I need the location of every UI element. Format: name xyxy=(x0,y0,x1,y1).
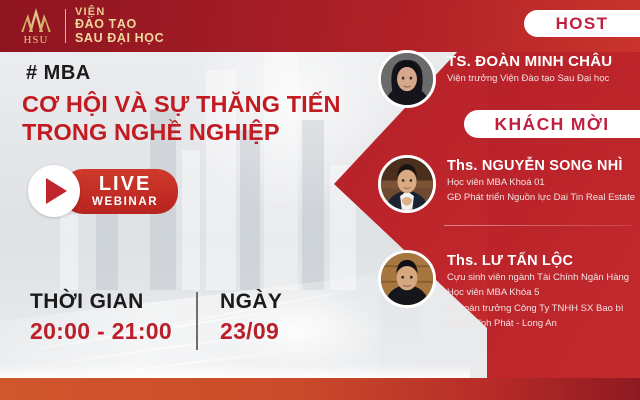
title-line-2: TRONG NGHỀ NGHIỆP xyxy=(22,118,341,146)
title-line-1: CƠ HỘI VÀ SỰ THĂNG TIẾN xyxy=(22,90,341,118)
speaker-role: nhựa Vĩnh Phát - Long An xyxy=(447,317,629,330)
hsu-logo[interactable]: HSU VIỆN ĐÀO TẠO SAU ĐẠI HỌC xyxy=(14,5,164,47)
live-label: LIVE xyxy=(92,174,158,194)
speaker-role: Học viên MBA Khóa 5 xyxy=(447,286,629,299)
speaker-name: TS. ĐOÀN MINH CHÂU xyxy=(447,53,612,70)
speaker-host: TS. ĐOÀN MINH CHÂU Viện trưởng Viện Đào … xyxy=(378,50,612,108)
avatar xyxy=(378,155,436,213)
building-tower xyxy=(264,40,298,290)
bottom-fade xyxy=(0,364,470,378)
date-column: NGÀY 23/09 xyxy=(220,290,282,345)
speaker-role: GĐ Phát triển Nguồn lực Dai Tin Real Est… xyxy=(447,191,635,204)
webinar-poster: HSU VIỆN ĐÀO TẠO SAU ĐẠI HỌC HOST KHÁCH … xyxy=(0,0,640,400)
hsu-wordmark: HSU xyxy=(14,34,58,46)
speaker-guest-1: Ths. NGUYỄN SONG NHÌ Học viên MBA Khoá 0… xyxy=(378,155,635,213)
time-column: THỜI GIAN 20:00 - 21:00 xyxy=(30,290,172,345)
avatar xyxy=(378,250,436,308)
brand-line-2: ĐÀO TẠO xyxy=(75,18,164,32)
bottom-accent-bar xyxy=(0,378,640,400)
avatar xyxy=(378,50,436,108)
schedule-block: THỜI GIAN 20:00 - 21:00 NGÀY 23/09 xyxy=(30,290,282,350)
speaker-guest-2: Ths. LƯ TẤN LỘC Cựu sinh viên ngành Tài … xyxy=(378,250,629,331)
speaker-divider xyxy=(444,225,632,226)
speaker-role: Cựu sinh viên ngành Tài Chính Ngân Hàng xyxy=(447,271,629,284)
speaker-name: Ths. LƯ TẤN LỘC xyxy=(447,253,629,269)
building-shape xyxy=(240,130,260,290)
host-badge: HOST xyxy=(524,10,640,37)
speaker-role: Kế toán trưởng Công Ty TNHH SX Bao bì xyxy=(447,302,629,315)
hsu-flame-icon: HSU xyxy=(14,7,58,46)
logo-divider xyxy=(65,9,66,43)
page-title: CƠ HỘI VÀ SỰ THĂNG TIẾN TRONG NGHỀ NGHIỆ… xyxy=(22,90,341,146)
play-icon[interactable] xyxy=(28,165,80,217)
time-label: THỜI GIAN xyxy=(30,290,172,314)
live-webinar-button[interactable]: LIVE WEBINAR xyxy=(28,165,178,217)
hashtag-mba: # MBA xyxy=(26,62,91,85)
play-triangle xyxy=(46,178,67,204)
date-value: 23/09 xyxy=(220,318,282,345)
speaker-role: Học viên MBA Khoá 01 xyxy=(447,176,635,189)
building-shape xyxy=(60,215,78,290)
building-shape xyxy=(182,150,200,290)
webinar-label: WEBINAR xyxy=(92,196,158,208)
date-label: NGÀY xyxy=(220,290,282,314)
brand-line-3: SAU ĐẠI HỌC xyxy=(75,32,164,46)
speaker-role: Viện trưởng Viện Đào tạo Sau Đại học xyxy=(447,72,612,85)
schedule-divider xyxy=(196,292,198,350)
guest-badge: KHÁCH MỜI xyxy=(464,110,640,138)
time-value: 20:00 - 21:00 xyxy=(30,318,172,345)
speaker-name: Ths. NGUYỄN SONG NHÌ xyxy=(447,158,635,174)
